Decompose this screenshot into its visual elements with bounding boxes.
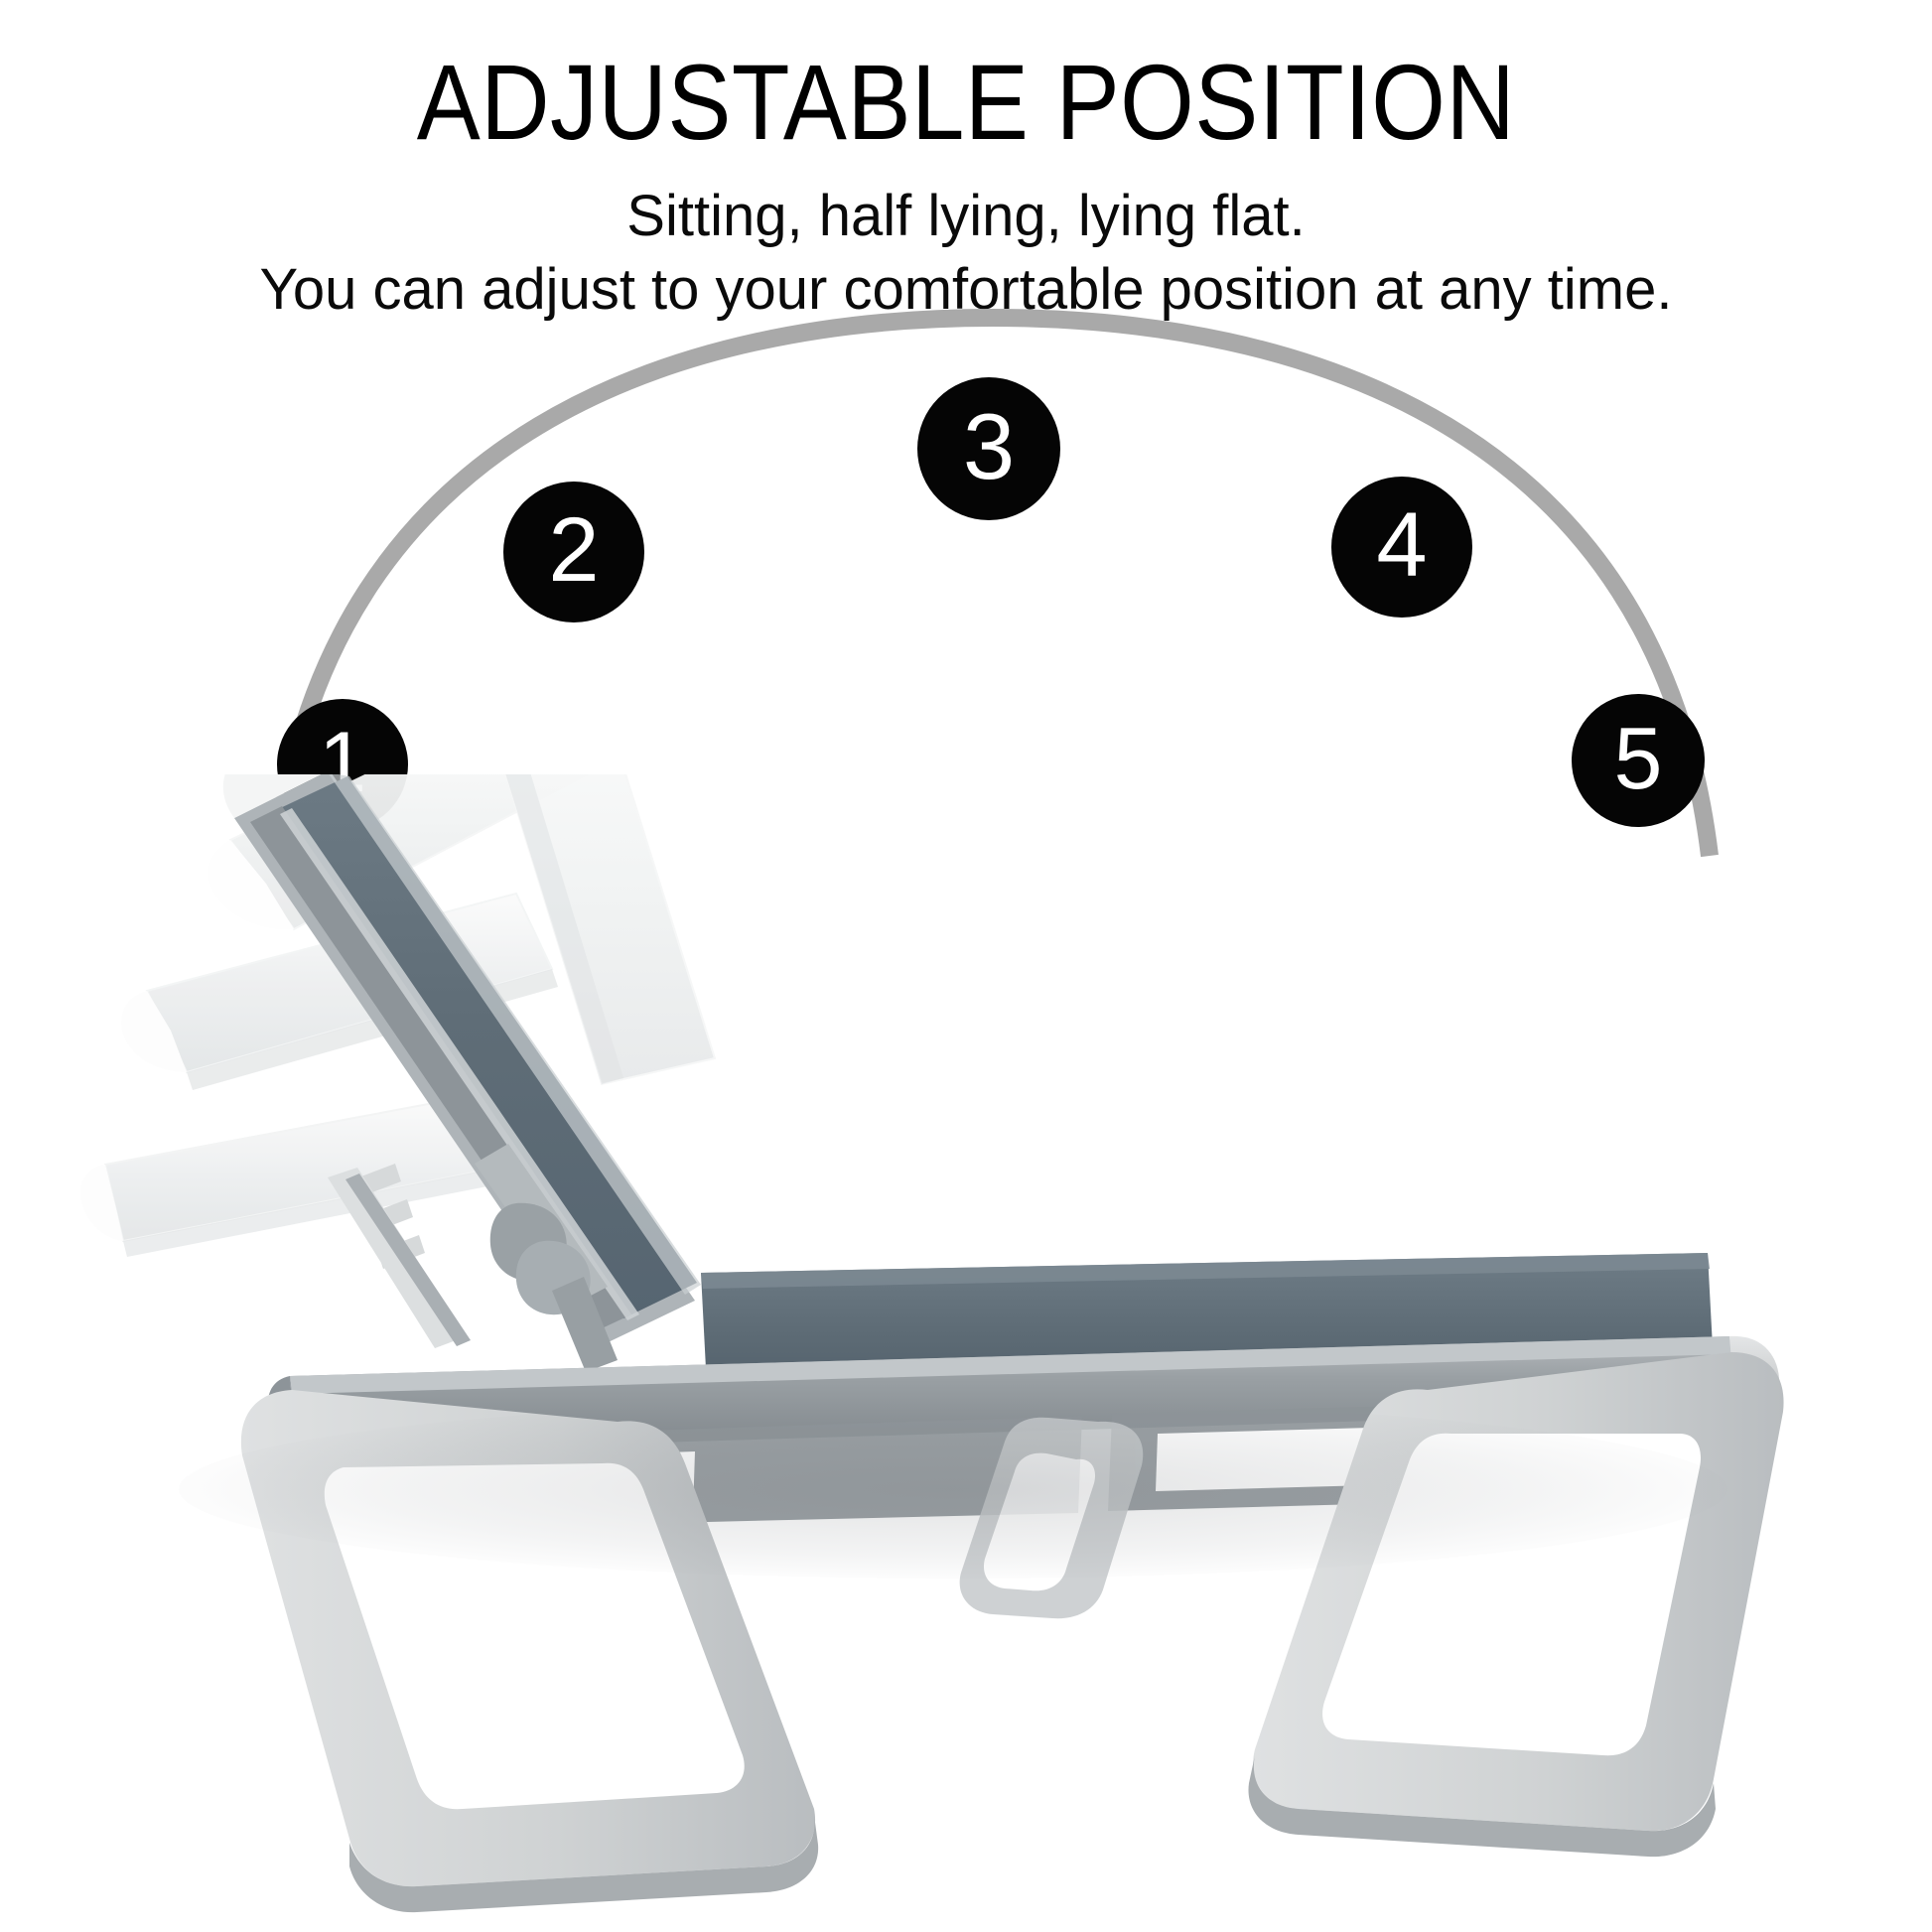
position-badge-label: 2 bbox=[548, 504, 599, 596]
position-badge-label: 4 bbox=[1376, 499, 1427, 591]
page-title: ADJUSTABLE POSITION bbox=[0, 0, 1932, 158]
chair-svg bbox=[0, 774, 1932, 1932]
ghost-backrest-1 bbox=[80, 1096, 492, 1257]
infographic-page: ADJUSTABLE POSITION Sitting, half lying,… bbox=[0, 0, 1932, 1932]
position-badge-2[interactable]: 2 bbox=[503, 482, 644, 622]
floor-shadow bbox=[179, 1400, 1727, 1579]
chaise-lounge-illustration bbox=[0, 774, 1932, 1932]
subtitle-line-2: You can adjust to your comfortable posit… bbox=[0, 250, 1932, 324]
position-badge-4[interactable]: 4 bbox=[1331, 477, 1472, 618]
position-badge-label: 3 bbox=[963, 400, 1015, 493]
header-block: ADJUSTABLE POSITION Sitting, half lying,… bbox=[0, 0, 1932, 325]
position-badge-3[interactable]: 3 bbox=[917, 377, 1060, 520]
